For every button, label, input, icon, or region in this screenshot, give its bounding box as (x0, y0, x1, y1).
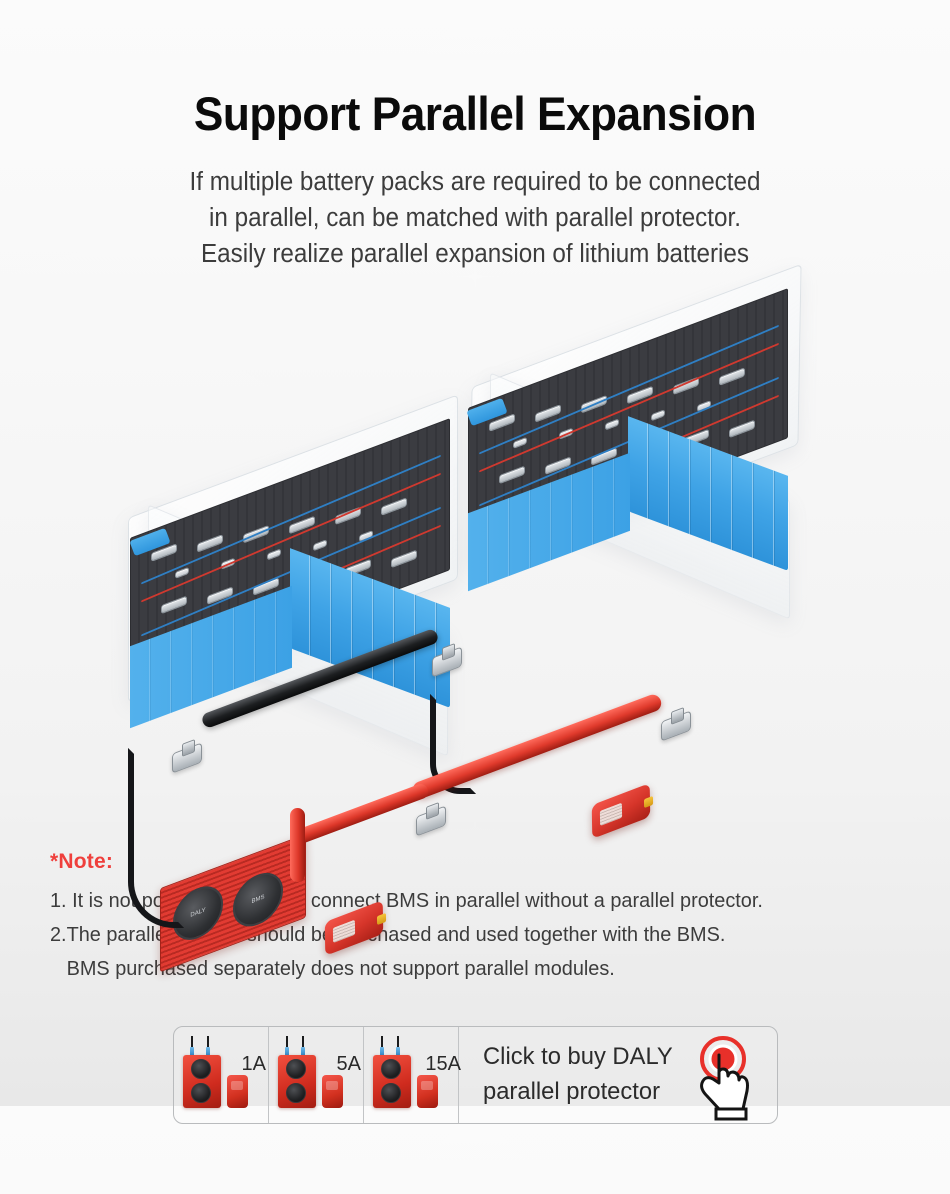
protector-device-icon (322, 1075, 343, 1108)
negative-cable-left (128, 748, 184, 928)
page-subtitle: If multiple battery packs are required t… (24, 164, 927, 273)
lead-wire-icon (207, 1036, 209, 1055)
battery-parallel-illustration: DALY BMS (0, 286, 950, 716)
fan-icon (381, 1083, 401, 1103)
bms-board-icon (183, 1055, 221, 1108)
bms-board-icon (278, 1055, 316, 1108)
hand-click-icon (683, 1035, 765, 1121)
bms-brand-label: DALY (190, 907, 205, 920)
red-busbar-riser (290, 808, 305, 882)
lead-wire-icon (397, 1036, 399, 1055)
subtitle-line-2: in parallel, can be matched with paralle… (24, 200, 927, 236)
fan-icon (286, 1059, 306, 1079)
battery-module-right (468, 348, 788, 548)
fan-icon (191, 1083, 211, 1103)
variant-option-5a[interactable]: 5A (269, 1027, 364, 1123)
buy-parallel-protector-cta[interactable]: 1A 5A 15A Click to buy DA (173, 1026, 778, 1124)
variant-option-1a[interactable]: 1A (174, 1027, 269, 1123)
lead-wire-icon (286, 1036, 288, 1055)
illustration-stage: DALY BMS (0, 286, 950, 716)
terminal-bolt-3 (416, 806, 446, 837)
cta-label: Click to buy DALY parallel protector (483, 1040, 673, 1110)
bms-fan-right-icon: BMS (233, 866, 283, 935)
cta-text-area[interactable]: Click to buy DALY parallel protector (459, 1027, 777, 1123)
fan-icon (191, 1059, 211, 1079)
cta-label-line-2: parallel protector (483, 1075, 673, 1110)
product-thumbnail-15a: 15A (367, 1035, 455, 1115)
variant-amp-label: 1A (242, 1053, 266, 1076)
variant-amp-label: 5A (337, 1053, 361, 1076)
fan-icon (381, 1059, 401, 1079)
fan-icon (286, 1083, 306, 1103)
protector-device-icon (417, 1075, 438, 1108)
bms-board-icon (373, 1055, 411, 1108)
lead-wire-icon (302, 1036, 304, 1055)
protector-device-icon (227, 1075, 248, 1108)
red-busbar-bridge (294, 782, 430, 845)
subtitle-line-1: If multiple battery packs are required t… (24, 164, 927, 200)
lead-wire-icon (381, 1036, 383, 1055)
terminal-bolt-4 (661, 711, 691, 742)
variant-option-15a[interactable]: 15A (364, 1027, 459, 1123)
product-thumbnail-1a: 1A (177, 1035, 265, 1115)
product-thumbnail-5a: 5A (272, 1035, 360, 1115)
parallel-protector-back (592, 783, 651, 839)
protector-connector-icon (644, 796, 653, 808)
variant-amp-label: 15A (425, 1053, 461, 1076)
bms-sub-label: BMS (251, 894, 264, 906)
lead-wire-icon (191, 1036, 193, 1055)
cta-label-line-1: Click to buy DALY (483, 1040, 673, 1075)
page-title: Support Parallel Expansion (29, 88, 922, 140)
